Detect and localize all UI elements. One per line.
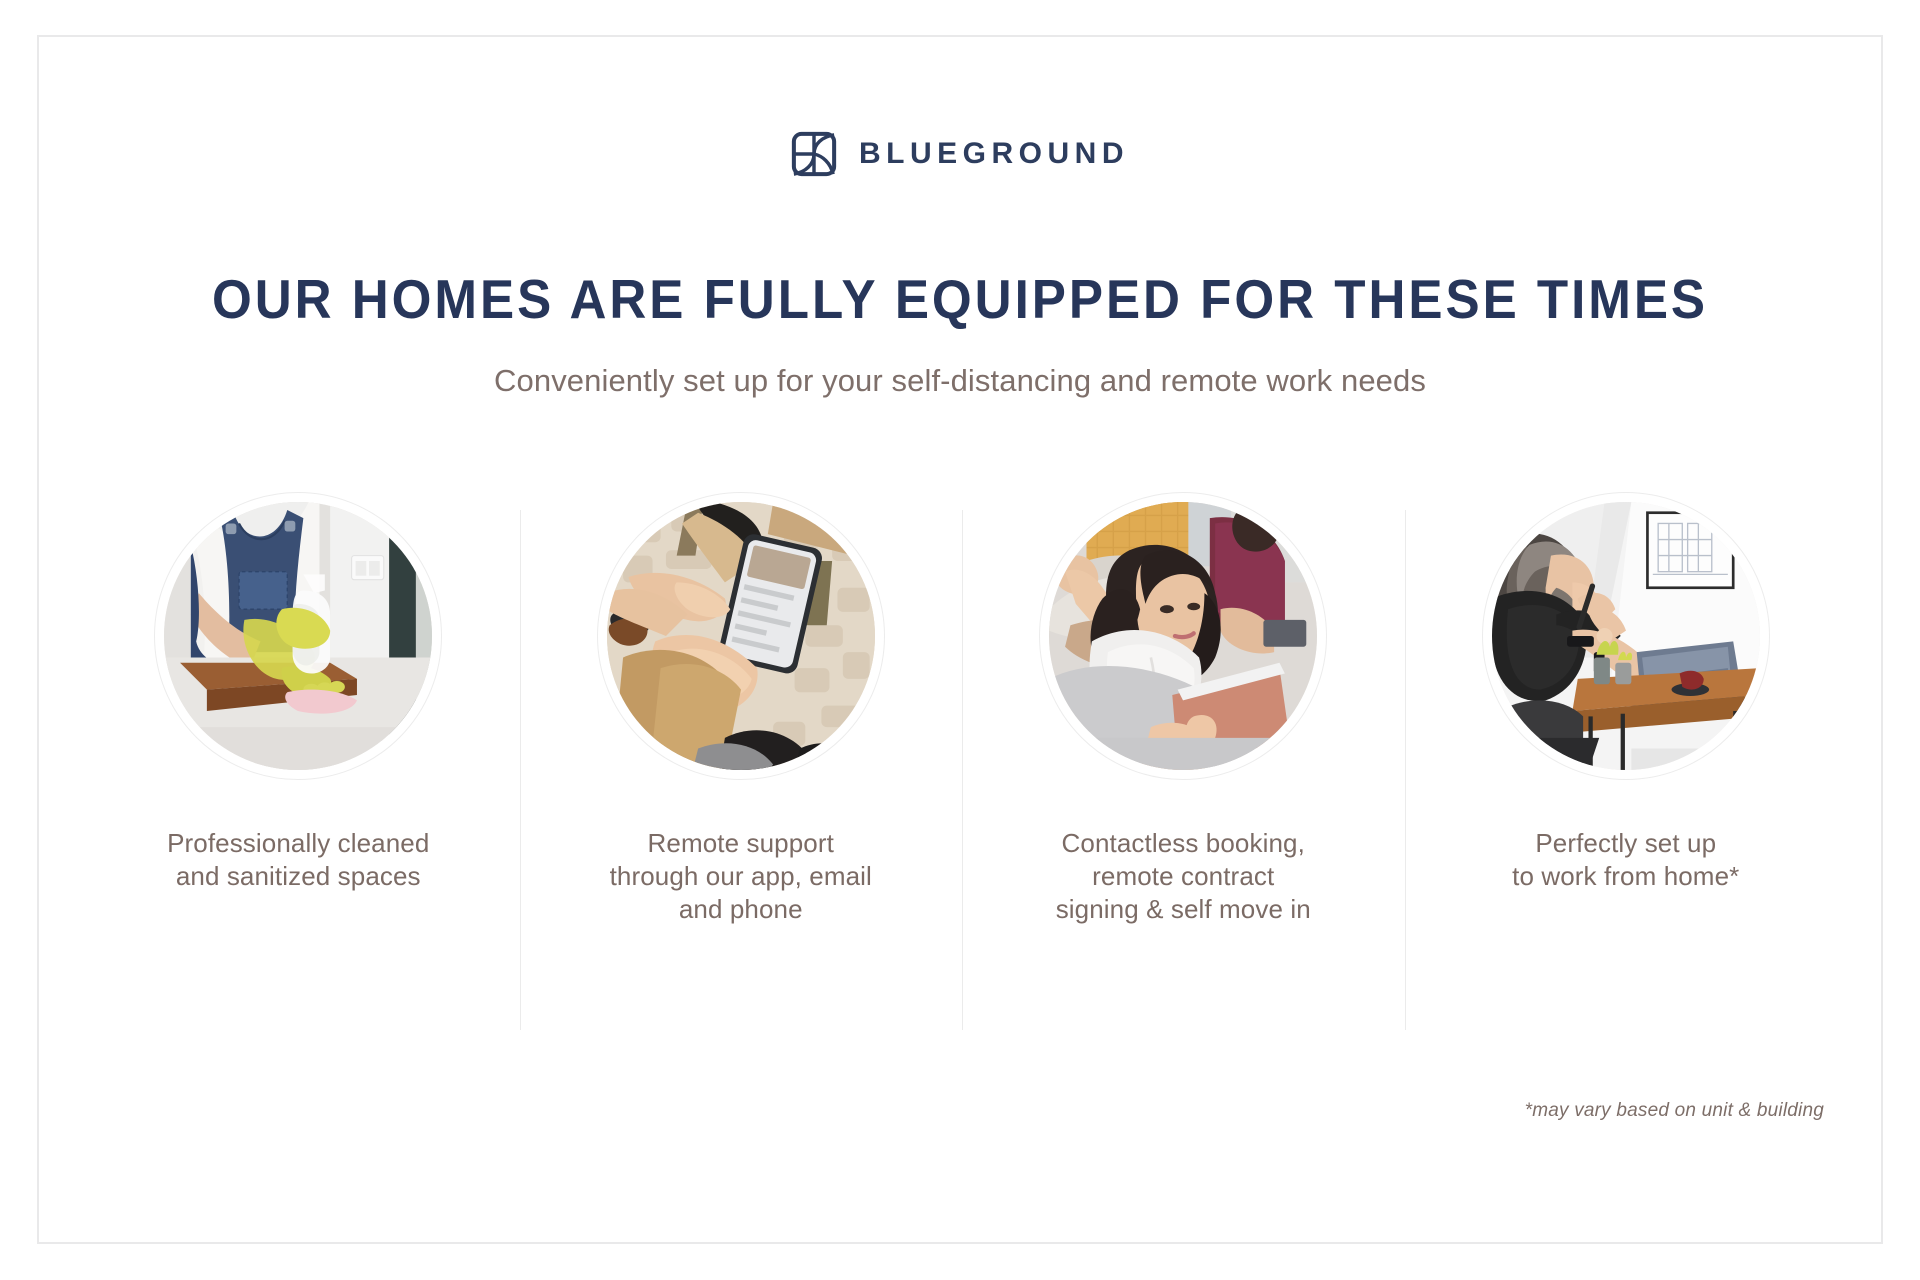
photo-work-from-home: [1492, 502, 1760, 770]
feature-column-remote-support: Remote support through our app, email an…: [520, 474, 963, 1034]
photo-ring: [1482, 492, 1770, 780]
feature-caption: Contactless booking, remote contract sig…: [1046, 827, 1321, 926]
brand-lockup: BLUEGROUND: [39, 131, 1881, 177]
footnote-disclaimer: *may vary based on unit & building: [1525, 1100, 1824, 1122]
feature-column-cleaning: Professionally cleaned and sanitized spa…: [77, 474, 520, 1034]
photo-contactless-booking: [1049, 502, 1317, 770]
page-subtitle: Conveniently set up for your self-distan…: [39, 363, 1881, 399]
feature-column-work-from-home: Perfectly set up to work from home*: [1405, 474, 1848, 1034]
photo-cleaning: [164, 502, 432, 770]
feature-caption: Remote support through our app, email an…: [600, 827, 882, 926]
photo-remote-support: [607, 502, 875, 770]
feature-caption: Professionally cleaned and sanitized spa…: [157, 827, 439, 893]
page-title: OUR HOMES ARE FULLY EQUIPPED FOR THESE T…: [103, 267, 1816, 331]
feature-columns: Professionally cleaned and sanitized spa…: [77, 474, 1847, 1034]
blueground-square-logo-icon: [791, 131, 837, 177]
photo-ring: [1039, 492, 1327, 780]
brand-name: BLUEGROUND: [859, 137, 1129, 171]
feature-caption: Perfectly set up to work from home*: [1502, 827, 1749, 893]
feature-column-contactless-booking: Contactless booking, remote contract sig…: [962, 474, 1405, 1034]
photo-ring: [154, 492, 442, 780]
photo-ring: [597, 492, 885, 780]
poster-card: BLUEGROUND OUR HOMES ARE FULLY EQUIPPED …: [37, 35, 1883, 1244]
